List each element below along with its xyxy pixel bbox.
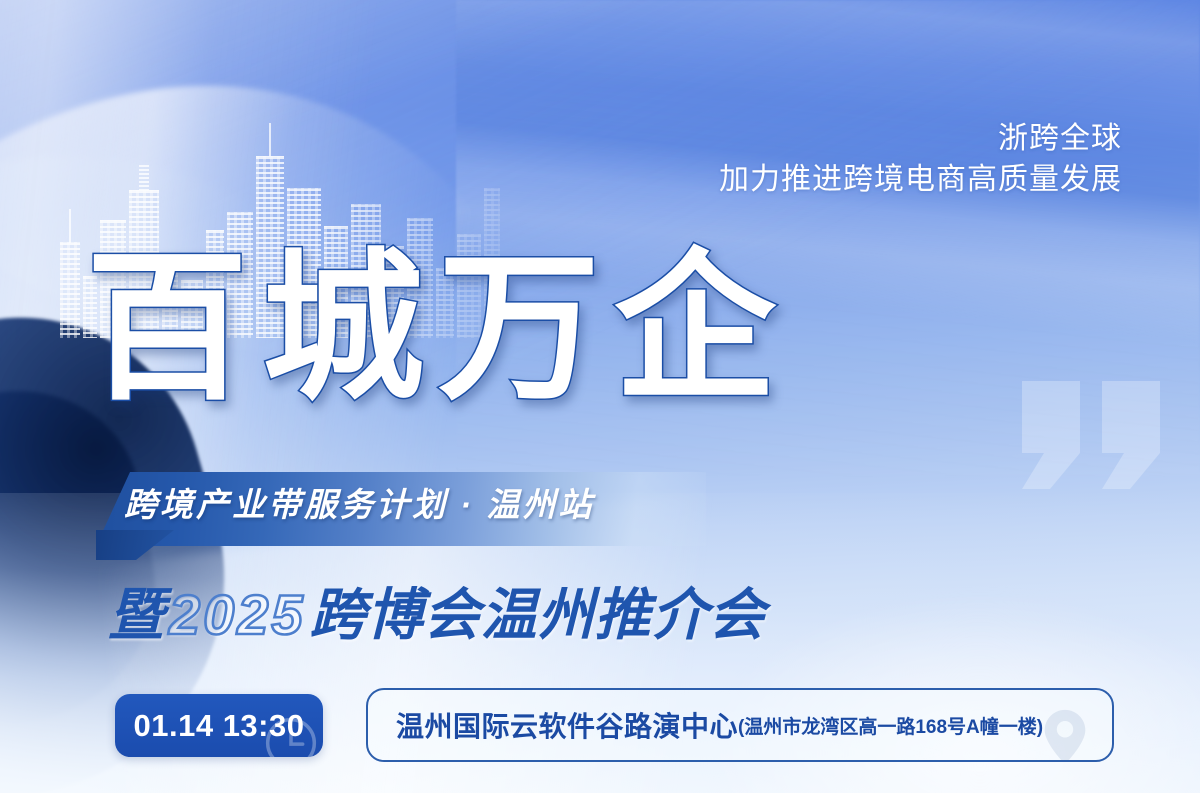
page-title: 百城万企 bbox=[86, 248, 790, 410]
quotation-mark-icon bbox=[1014, 375, 1174, 495]
venue-box: 温州国际云软件谷路演中心 (温州市龙湾区高一路168号A幢一楼) bbox=[366, 688, 1114, 762]
subtitle-prefix: 暨 bbox=[108, 583, 165, 646]
venue-address: (温州市龙湾区高一路168号A幢一楼) bbox=[738, 712, 1043, 739]
tagline: 浙跨全球 加力推进跨境电商高质量发展 bbox=[719, 118, 1122, 201]
venue-name: 温州国际云软件谷路演中心 bbox=[396, 705, 738, 745]
subtitle-secondary: 暨2025跨博会温州推介会 bbox=[108, 570, 766, 651]
subtitle-year: 2025 bbox=[165, 583, 310, 646]
ribbon-label: 跨境产业带服务计划 · 温州站 bbox=[124, 478, 594, 526]
map-pin-icon bbox=[1036, 708, 1094, 762]
tagline-line-2: 加力推进跨境电商高质量发展 bbox=[719, 159, 1122, 200]
date-time-value: 01.14 13:30 bbox=[115, 694, 323, 757]
date-time-pill: 01.14 13:30 bbox=[115, 694, 323, 757]
event-poster: 浙跨全球 加力推进跨境电商高质量发展 百城万企 跨境产业带服务计划 · 温州站 … bbox=[0, 0, 1200, 793]
venue-text: 温州国际云软件谷路演中心 (温州市龙湾区高一路168号A幢一楼) bbox=[396, 690, 1043, 760]
subtitle-suffix: 跨博会温州推介会 bbox=[310, 583, 766, 646]
tagline-line-1: 浙跨全球 bbox=[719, 118, 1122, 159]
